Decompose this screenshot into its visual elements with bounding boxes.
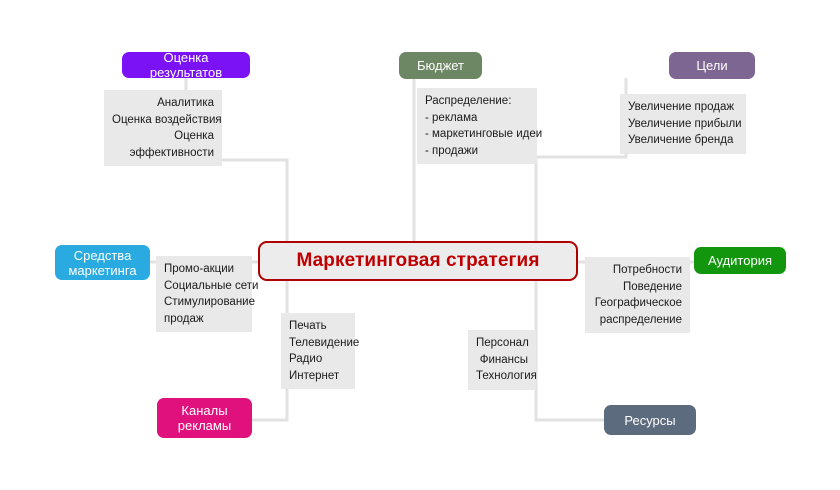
detail-item: Увеличение бренда	[628, 132, 738, 149]
node-audience[interactable]: Аудитория	[694, 247, 786, 274]
node-evaluation[interactable]: Оценка результатов	[122, 52, 250, 78]
detail-item: - маркетинговые идеи	[425, 126, 529, 143]
detail-item: Технология	[476, 368, 528, 385]
mindmap-canvas: Оценка результатов Аналитика Оценка возд…	[0, 0, 840, 490]
node-evaluation-label: Оценка результатов	[131, 50, 241, 80]
detail-item: - реклама	[425, 110, 529, 127]
detail-item: Оценка воздействия	[112, 112, 214, 129]
detail-item: Увеличение продаж	[628, 99, 738, 116]
detail-budget: Распределение: - реклама - маркетинговые…	[417, 88, 537, 164]
detail-item: Географическое	[593, 295, 682, 312]
detail-item: Промо-акции	[164, 261, 244, 278]
detail-item: - продажи	[425, 143, 529, 160]
connector-goals	[536, 78, 626, 243]
center-node[interactable]: Маркетинговая стратегия	[258, 241, 578, 281]
detail-item: Аналитика	[112, 95, 214, 112]
detail-item: Финансы	[476, 352, 528, 369]
detail-item: Увеличение прибыли	[628, 116, 738, 133]
detail-audience: Потребности Поведение Географическое рас…	[585, 257, 690, 333]
detail-item: Поведение	[593, 279, 682, 296]
detail-item: распределение	[593, 312, 682, 329]
detail-item: Персонал	[476, 335, 528, 352]
detail-ad-channels: Печать Телевидение Радио Интернет	[281, 313, 355, 389]
node-audience-label: Аудитория	[708, 253, 772, 268]
node-marketing-tools[interactable]: Средства маркетинга	[55, 245, 150, 280]
node-goals-label: Цели	[696, 58, 727, 73]
detail-marketing-tools: Промо-акции Социальные сети Стимулирован…	[156, 256, 252, 332]
page-title: Маркетинговая стратегия	[296, 250, 539, 272]
node-budget-label: Бюджет	[417, 58, 464, 73]
node-resources[interactable]: Ресурсы	[604, 405, 696, 435]
detail-goals: Увеличение продаж Увеличение прибыли Уве…	[620, 94, 746, 154]
detail-item: Телевидение	[289, 335, 347, 352]
node-marketing-tools-label: Средства маркетинга	[64, 248, 141, 278]
detail-item: Стимулирование	[164, 294, 244, 311]
detail-item: Печать	[289, 318, 347, 335]
detail-item: продаж	[164, 311, 244, 328]
detail-item: Социальные сети	[164, 278, 244, 295]
detail-item: Распределение:	[425, 93, 529, 110]
detail-item: эффективности	[112, 145, 214, 162]
node-resources-label: Ресурсы	[624, 413, 675, 428]
node-goals[interactable]: Цели	[669, 52, 755, 79]
node-ad-channels-label: Каналы рекламы	[166, 403, 243, 433]
detail-resources: Персонал Финансы Технология	[468, 330, 536, 390]
detail-item: Радио	[289, 351, 347, 368]
detail-item: Оценка	[112, 128, 214, 145]
node-budget[interactable]: Бюджет	[399, 52, 482, 79]
detail-item: Потребности	[593, 262, 682, 279]
detail-evaluation: Аналитика Оценка воздействия Оценка эффе…	[104, 90, 222, 166]
node-ad-channels[interactable]: Каналы рекламы	[157, 398, 252, 438]
detail-item: Интернет	[289, 368, 347, 385]
